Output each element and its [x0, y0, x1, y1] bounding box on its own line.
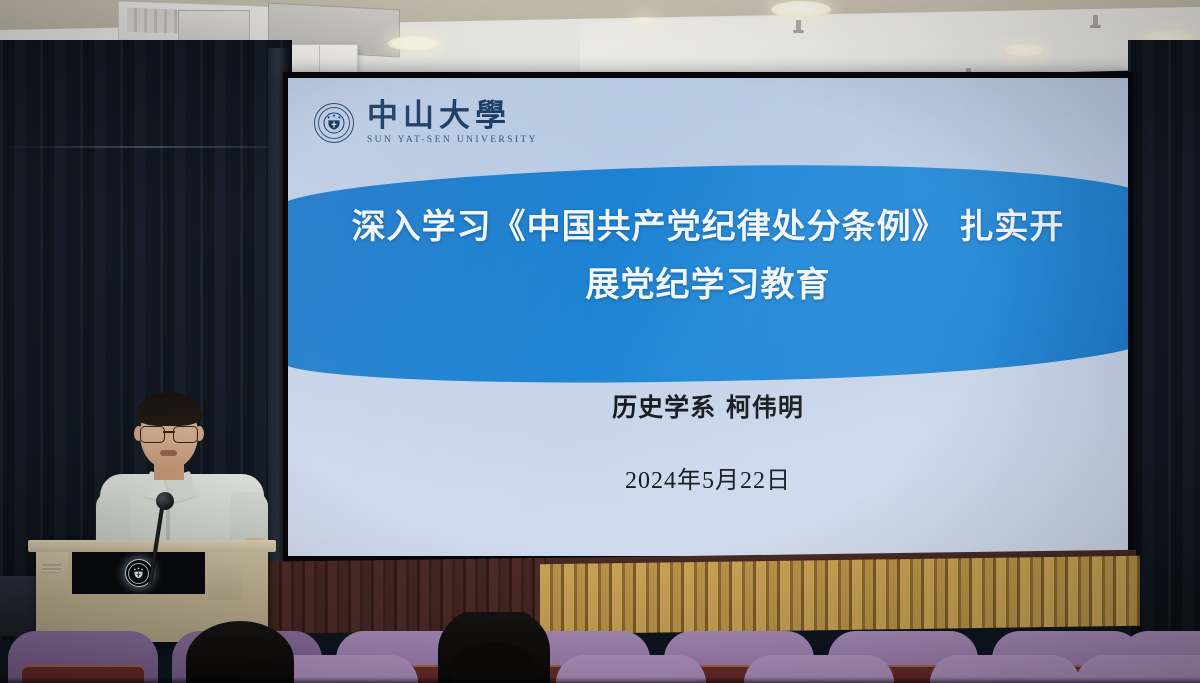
seat	[8, 631, 158, 683]
slide-title: 深入学习《中国共产党纪律处分条例》 扎实开 展党纪学习教育	[288, 198, 1128, 315]
fire-sprinkler-icon	[796, 20, 801, 32]
recessed-downlight-icon	[632, 17, 658, 25]
audience-member-silhouette	[438, 612, 550, 683]
recessed-downlight-icon	[388, 36, 440, 51]
university-name-en: SUN YAT-SEN UNIVERSITY	[367, 135, 538, 145]
curtain-seam	[0, 146, 292, 148]
podium-top-surface	[28, 540, 276, 552]
projection-screen: 中山大學 SUN YAT-SEN UNIVERSITY 深入学习《中国共产党纪律…	[288, 78, 1128, 556]
audience-seating	[0, 612, 1200, 683]
slide-title-line-1: 深入学习《中国共产党纪律处分条例》 扎实开	[314, 198, 1102, 256]
university-logo: 中山大學 SUN YAT-SEN UNIVERSITY	[314, 100, 538, 145]
slide-presenter: 历史学系 柯伟明	[288, 388, 1128, 424]
lens-right	[173, 426, 198, 443]
sun-yat-sen-university-seal-icon	[314, 103, 354, 143]
slide-title-line-2: 展党纪学习教育	[314, 256, 1102, 314]
recessed-downlight-icon	[771, 1, 831, 18]
photo-bottom-fade	[0, 677, 1200, 683]
lecture-hall-photo: 中山大學 SUN YAT-SEN UNIVERSITY 深入学习《中国共产党纪律…	[0, 0, 1200, 683]
slide-date: 2024年5月22日	[288, 460, 1128, 495]
podium-front-panel	[72, 552, 205, 594]
recessed-downlight-icon	[1002, 44, 1046, 57]
speaker-hair	[136, 392, 202, 426]
university-name-zh: 中山大學	[367, 100, 538, 131]
speaker-mouth	[160, 450, 177, 456]
microphone-head-icon	[156, 492, 174, 510]
logo-text-block: 中山大學 SUN YAT-SEN UNIVERSITY	[367, 100, 538, 145]
podium-wing-right	[208, 552, 242, 600]
fire-sprinkler-icon	[1093, 15, 1098, 27]
eyeglasses-icon	[140, 426, 198, 441]
lens-left	[140, 426, 165, 443]
podium-wing-left	[36, 552, 68, 600]
